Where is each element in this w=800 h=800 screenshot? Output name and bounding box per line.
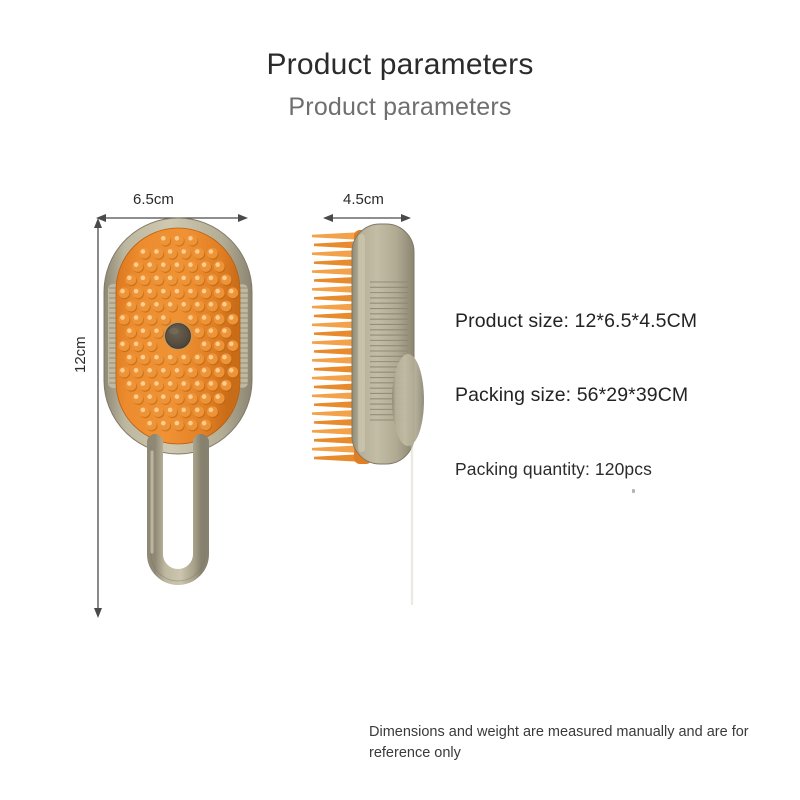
dimension-label-front-width: 6.5cm xyxy=(133,191,174,208)
product-parameters-page: Product parameters Product parameters 6.… xyxy=(0,0,800,800)
page-title: Product parameters xyxy=(0,48,800,82)
footer-disclaimer: Dimensions and weight are measured manua… xyxy=(369,722,773,764)
product-front-view xyxy=(96,214,260,632)
product-side-view xyxy=(296,214,446,632)
artifact-dot xyxy=(632,489,635,493)
front-handle-loop xyxy=(155,442,201,577)
spec-packing-size: Packing size: 56*29*39CM xyxy=(455,384,688,407)
side-handle-joint xyxy=(392,354,424,446)
front-center-hole xyxy=(164,322,193,351)
spec-packing-quantity: Packing quantity: 120pcs xyxy=(455,459,652,480)
dimension-label-front-height: 12cm xyxy=(72,336,89,373)
spec-product-size: Product size: 12*6.5*4.5CM xyxy=(455,310,697,333)
dimension-label-side-width: 4.5cm xyxy=(343,191,384,208)
page-subtitle: Product parameters xyxy=(0,93,800,122)
